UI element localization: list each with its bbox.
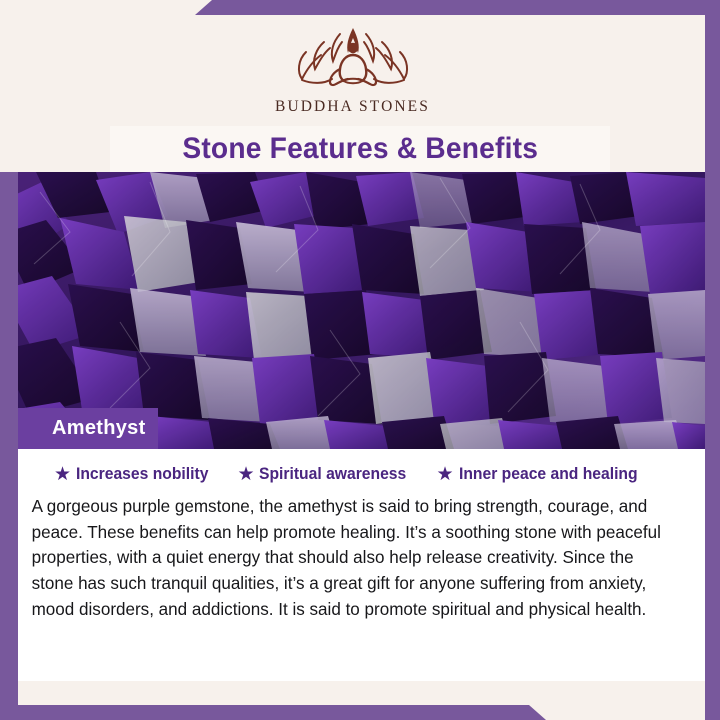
benefits-row: ★ Increases nobility ★ Spiritual awarene…: [18, 449, 705, 484]
description-text: A gorgeous purple gemstone, the amethyst…: [18, 484, 684, 622]
frame-right-bar: [705, 0, 720, 720]
star-icon: ★: [54, 465, 71, 484]
star-icon: ★: [436, 465, 453, 484]
frame-top-right-bar: [195, 0, 720, 15]
star-icon: ★: [237, 465, 254, 484]
brand-name: BUDDHA STONES: [275, 98, 430, 116]
benefit-item: ★ Inner peace and healing: [436, 465, 646, 484]
page-title: Stone Features & Benefits: [182, 132, 538, 166]
frame-bottom-left-bar: [0, 705, 546, 720]
benefit-label: Increases nobility: [76, 465, 208, 484]
benefit-label: Spiritual awareness: [259, 465, 406, 484]
benefit-item: ★ Increases nobility: [54, 465, 215, 484]
title-banner: Stone Features & Benefits: [110, 126, 610, 172]
lotus-meditation-figure-icon: [278, 22, 428, 92]
benefit-label: Inner peace and healing: [459, 465, 638, 484]
brand-logo: BUDDHA STONES: [0, 22, 705, 116]
hero-image: Amethyst: [0, 172, 705, 449]
stone-name-label: Amethyst: [52, 417, 146, 440]
content-card: ★ Increases nobility ★ Spiritual awarene…: [18, 449, 705, 681]
benefit-item: ★ Spiritual awareness: [237, 465, 414, 484]
stone-name-tag: Amethyst: [0, 408, 158, 449]
product-info-card: BUDDHA STONES Stone Features & Benefits: [0, 0, 720, 720]
